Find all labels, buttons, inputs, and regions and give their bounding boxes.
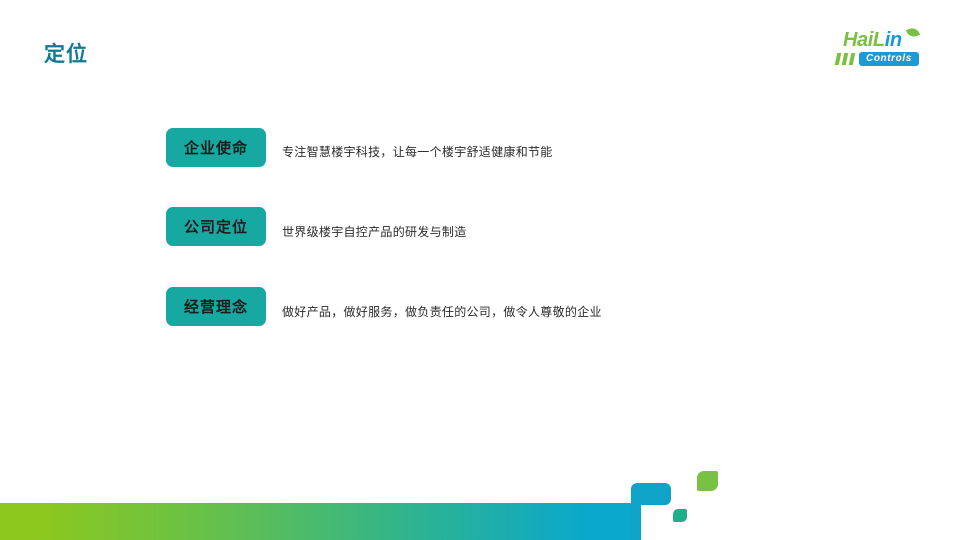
bars-icon-stripe bbox=[849, 53, 856, 65]
bars-icon bbox=[836, 53, 858, 65]
logo-wordmark-hai: HaiL bbox=[843, 29, 885, 51]
brand-logo: HaiLin Controls bbox=[833, 29, 933, 69]
slide-canvas: 定位 HaiLin Controls 企业使命 专注智慧楼宇科技，让每一个楼宇舒… bbox=[0, 0, 960, 540]
status-badge: 经营理念 bbox=[166, 287, 266, 326]
list-item: 企业使命 专注智慧楼宇科技，让每一个楼宇舒适健康和节能 bbox=[166, 128, 553, 167]
status-badge: 企业使命 bbox=[166, 128, 266, 167]
list-item-text: 专注智慧楼宇科技，让每一个楼宇舒适健康和节能 bbox=[282, 128, 553, 161]
page-title: 定位 bbox=[44, 41, 88, 69]
list-item-text: 做好产品，做好服务，做负责任的公司，做令人尊敬的企业 bbox=[282, 287, 602, 321]
logo-wordmark-lin: in bbox=[885, 29, 902, 51]
logo-tagline: Controls bbox=[859, 52, 919, 66]
list-item: 经营理念 做好产品，做好服务，做负责任的公司，做令人尊敬的企业 bbox=[166, 287, 602, 326]
footer-gradient-bar bbox=[0, 503, 640, 540]
list-item-text: 世界级楼宇自控产品的研发与制造 bbox=[282, 207, 467, 241]
bars-icon-stripe bbox=[835, 53, 842, 65]
logo-wordmark: HaiLin bbox=[843, 29, 902, 51]
footer-step-block bbox=[631, 483, 671, 505]
footer-square-teal bbox=[673, 509, 687, 522]
leaf-icon bbox=[906, 26, 920, 38]
bars-icon-stripe bbox=[842, 53, 849, 65]
list-item: 公司定位 世界级楼宇自控产品的研发与制造 bbox=[166, 207, 467, 246]
footer-square-green bbox=[697, 471, 718, 491]
status-badge: 公司定位 bbox=[166, 207, 266, 246]
